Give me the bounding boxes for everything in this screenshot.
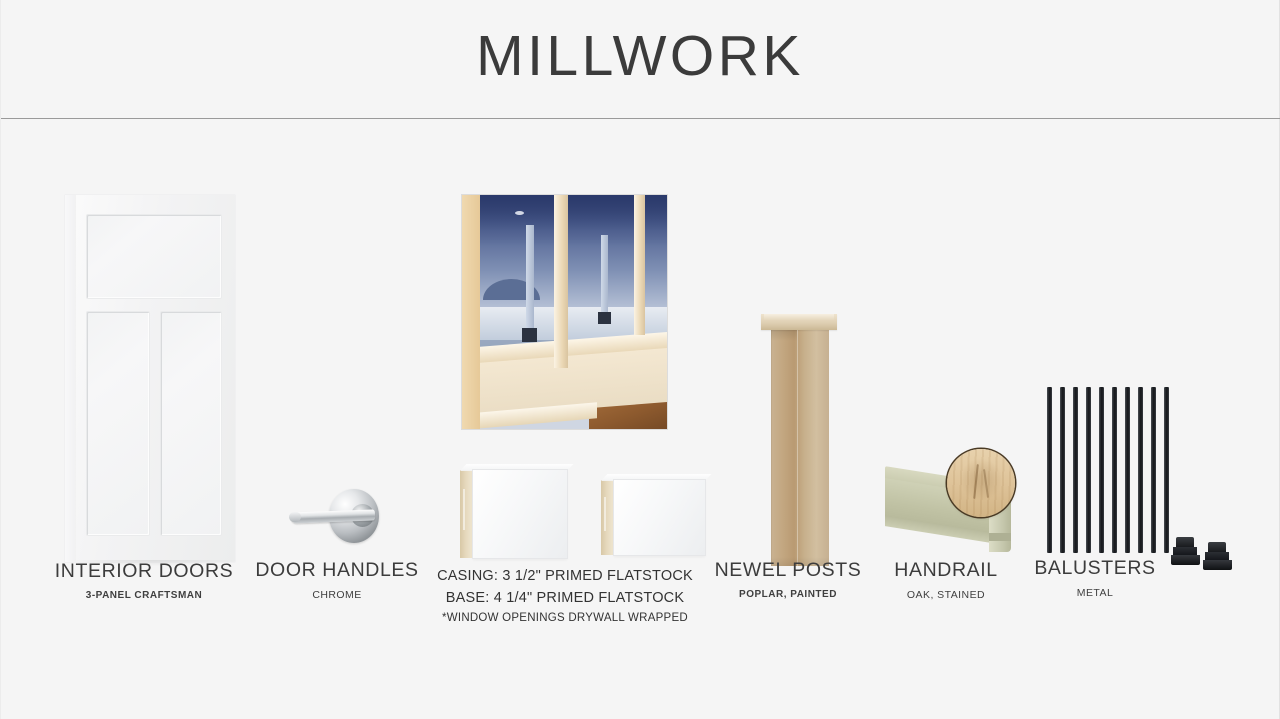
door-image <box>65 195 235 562</box>
newel-post-body <box>771 330 829 566</box>
wood-grain-line <box>973 464 979 499</box>
window-note-line: *WINDOW OPENINGS DRYWALL WRAPPED <box>419 610 711 627</box>
photo-deck-post-base <box>522 328 536 342</box>
caption-balusters: BALUSTERS METAL <box>1009 557 1181 601</box>
baluster-rod <box>1099 387 1104 553</box>
sublabel-door-handles: CHROME <box>233 588 441 602</box>
base-spec-line: BASE: 4 1/4" PRIMED FLATSTOCK <box>419 588 711 610</box>
balusters-image <box>1043 387 1233 567</box>
caption-handrail: HANDRAIL OAK, STAINED <box>859 559 1033 603</box>
page-title: MILLWORK <box>476 28 804 91</box>
sublabel-interior-doors: 3-PANEL CRAFTSMAN <box>33 589 255 603</box>
baluster-rod <box>1112 387 1117 553</box>
shoe-base <box>1203 560 1232 570</box>
oak-stain-swatch <box>947 449 1015 517</box>
newel-post-cap <box>761 314 837 330</box>
caption-door-handles: DOOR HANDLES CHROME <box>233 559 441 603</box>
slide-canvas: MILLWORK INTERIOR DOORS 3-PANEL CRAFTSMA… <box>0 0 1280 719</box>
newel-post-cap-top <box>764 314 834 320</box>
photo-deck-post <box>526 225 534 340</box>
flatstock-boards-image <box>447 458 693 566</box>
newel-post-corner-shadow <box>771 330 772 566</box>
slide-header: MILLWORK <box>1 0 1279 119</box>
label-balusters: BALUSTERS <box>1009 557 1181 579</box>
door-panel-bottom-right <box>161 312 221 535</box>
handrail-end-notch <box>989 533 1011 541</box>
sublabel-handrail: OAK, STAINED <box>859 588 1033 602</box>
door-panel-bottom-left <box>87 312 149 535</box>
board-primed-face <box>473 470 567 558</box>
photo-window-mullion <box>634 195 645 335</box>
door-handle-image <box>287 485 397 547</box>
baluster-rod <box>1151 387 1156 553</box>
baluster-shoe <box>1203 542 1233 571</box>
handrail-image <box>885 449 1015 564</box>
photo-deck-post <box>601 235 608 324</box>
label-interior-doors: INTERIOR DOORS <box>33 560 255 582</box>
board-raw-edge <box>460 470 473 558</box>
window-opening-photo <box>461 194 668 430</box>
baluster-rod <box>1164 387 1169 553</box>
door-slab <box>65 195 235 562</box>
caption-newel-posts: NEWEL POSTS POPLAR, PAINTED <box>697 559 879 602</box>
sublabel-newel-posts: POPLAR, PAINTED <box>697 588 879 602</box>
sublabel-balusters: METAL <box>1009 586 1181 600</box>
flatstock-board-casing <box>473 470 567 558</box>
label-door-handles: DOOR HANDLES <box>233 559 441 581</box>
label-handrail: HANDRAIL <box>859 559 1033 581</box>
caption-casing-base: CASING: 3 1/2" PRIMED FLATSTOCK BASE: 4 … <box>419 566 711 627</box>
photo-window-jamb-left <box>462 195 480 429</box>
board-primed-face <box>614 480 705 555</box>
millwork-board: INTERIOR DOORS 3-PANEL CRAFTSMAN DOOR HA… <box>1 119 1279 719</box>
handle-lever-tip <box>289 512 301 522</box>
casing-spec-line: CASING: 3 1/2" PRIMED FLATSTOCK <box>419 566 711 588</box>
newel-post-corner-highlight <box>797 330 798 566</box>
caption-interior-doors: INTERIOR DOORS 3-PANEL CRAFTSMAN <box>33 560 255 603</box>
photo-window-mullion <box>554 195 567 368</box>
baluster-rod <box>1047 387 1052 553</box>
baluster-rod <box>1086 387 1091 553</box>
baluster-rod <box>1060 387 1065 553</box>
door-stile-left <box>65 195 76 562</box>
baluster-rod <box>1073 387 1078 553</box>
board-raw-edge <box>601 480 614 555</box>
newel-post-image <box>761 314 837 566</box>
photo-deck-post-base <box>598 312 610 324</box>
baluster-rod <box>1138 387 1143 553</box>
flatstock-board-base <box>614 480 705 555</box>
label-newel-posts: NEWEL POSTS <box>697 559 879 581</box>
door-panel-top <box>87 215 221 298</box>
baluster-rod <box>1125 387 1130 553</box>
newel-post-miter-shadow <box>771 330 797 341</box>
wood-grain-line <box>983 469 989 498</box>
